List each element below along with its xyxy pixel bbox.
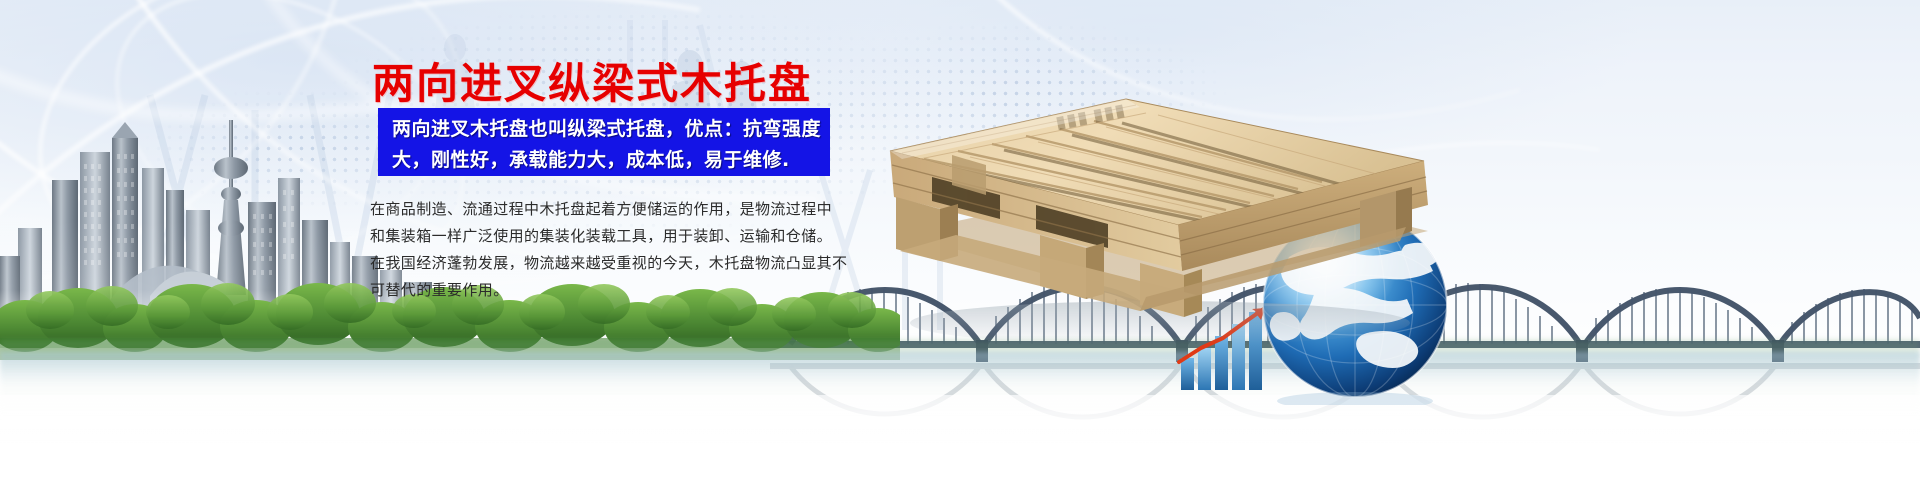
body-line-4: 可替代的重要作用。 bbox=[370, 277, 850, 304]
wooden-pallet-image bbox=[840, 55, 1480, 355]
water-line bbox=[0, 352, 1920, 386]
body-line-3: 在我国经济蓬勃发展，物流越来越受重视的今天，木托盘物流凸显其不 bbox=[370, 250, 850, 277]
body-copy: 在商品制造、流通过程中木托盘起着方便储运的作用，是物流过程中 和集装箱一样广泛使… bbox=[370, 196, 850, 304]
highlight-callout-box: 两向进叉木托盘也叫纵梁式托盘，优点：抗弯强度 大，刚性好，承载能力大，成本低，易… bbox=[378, 108, 830, 176]
body-line-2: 和集装箱一样广泛使用的集装化装载工具，用于装卸、运输和仓储。 bbox=[370, 223, 850, 250]
highlight-line-2: 大，刚性好，承载能力大，成本低，易于维修. bbox=[392, 145, 820, 176]
body-line-1: 在商品制造、流通过程中木托盘起着方便储运的作用，是物流过程中 bbox=[370, 196, 850, 223]
page-title: 两向进叉纵梁式木托盘 bbox=[372, 50, 812, 111]
bottom-fade bbox=[0, 395, 1920, 500]
product-banner: 两向进叉纵梁式木托盘 两向进叉木托盘也叫纵梁式托盘，优点：抗弯强度 大，刚性好，… bbox=[0, 0, 1920, 500]
highlight-line-1: 两向进叉木托盘也叫纵梁式托盘，优点：抗弯强度 bbox=[392, 114, 820, 145]
